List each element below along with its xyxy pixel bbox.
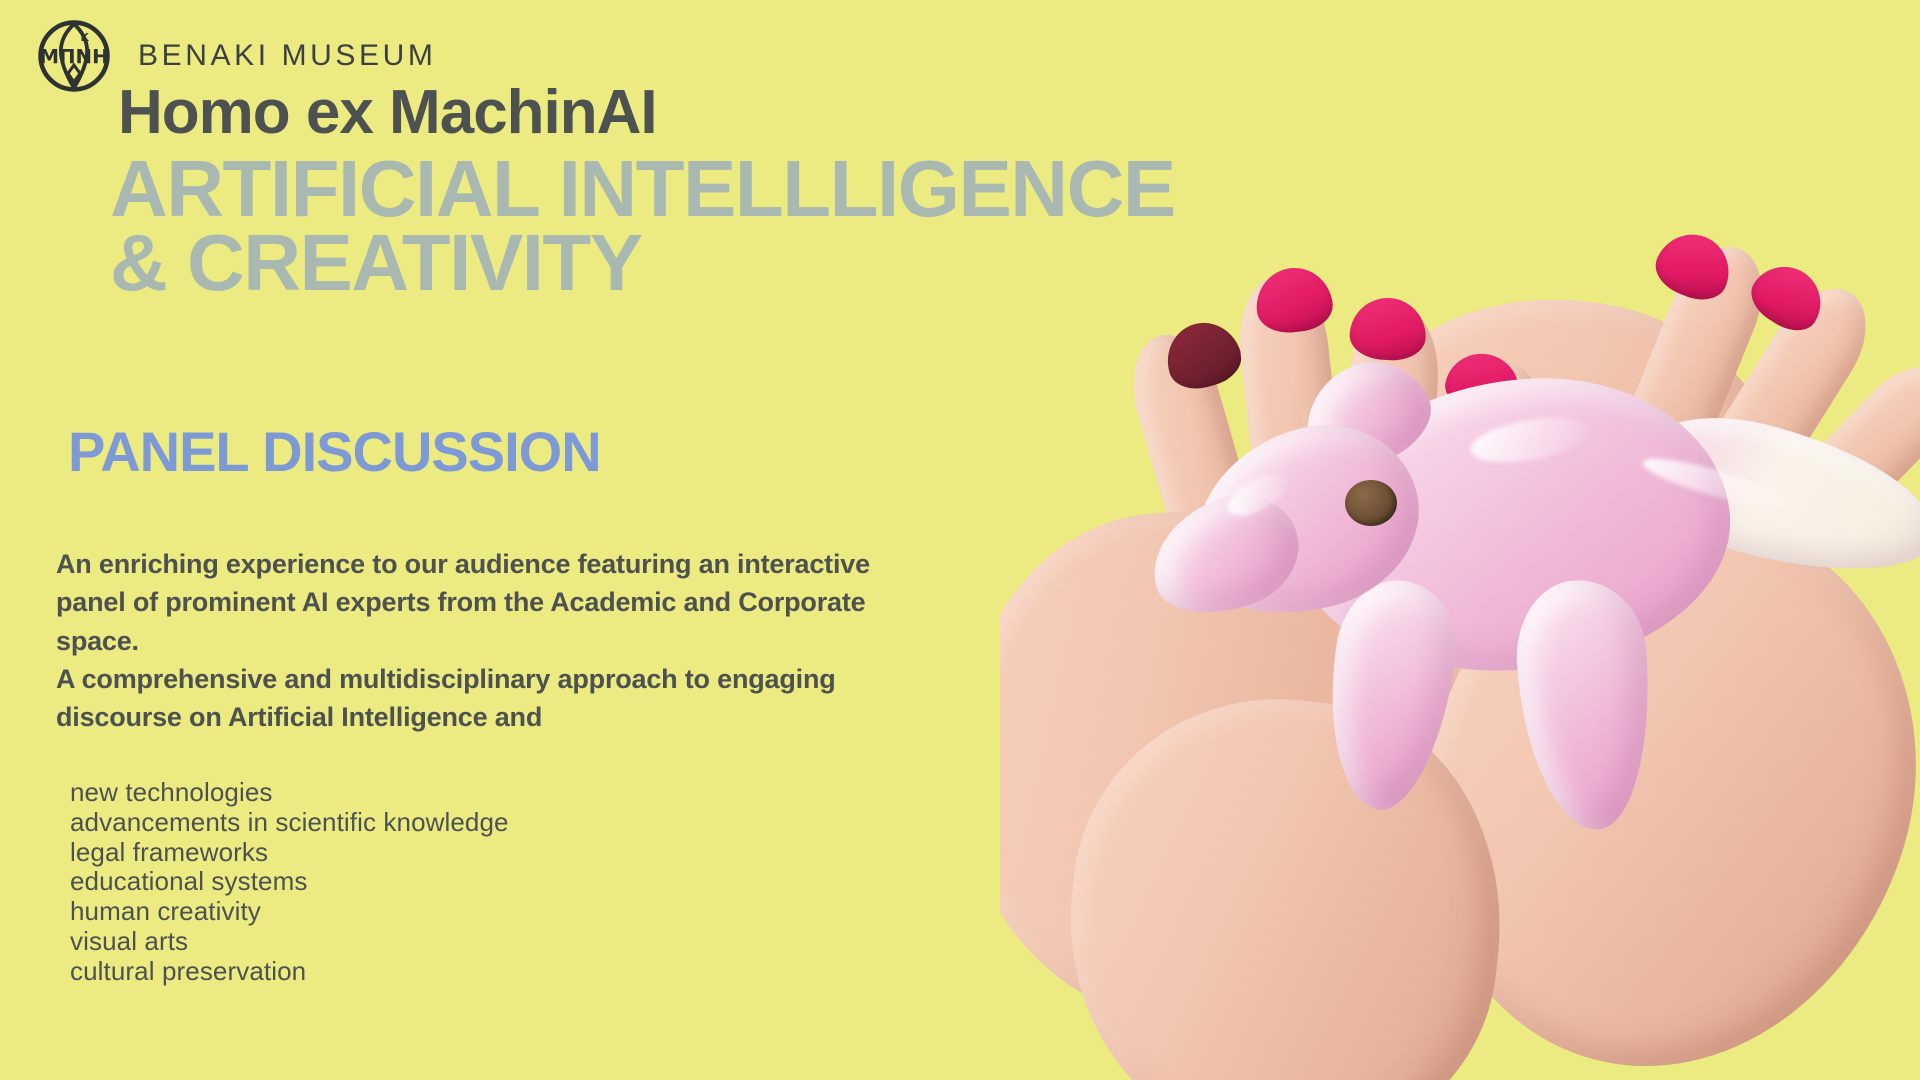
- figurine-ear: [1286, 344, 1444, 485]
- fingernail: [1159, 314, 1248, 396]
- description-paragraph-1: An enriching experience to our audience …: [56, 545, 916, 660]
- figurine-front-leg: [1315, 573, 1466, 817]
- list-item: visual arts: [70, 927, 509, 957]
- highlight: [1222, 466, 1294, 523]
- finger: [1233, 271, 1355, 608]
- description-block: An enriching experience to our audience …: [56, 545, 916, 737]
- list-item: educational systems: [70, 867, 509, 897]
- fingernail: [1253, 264, 1335, 336]
- svg-text:ΜΠΝΗ: ΜΠΝΗ: [39, 46, 108, 69]
- highlight: [1639, 450, 1790, 516]
- fingernail: [1742, 253, 1834, 340]
- benaki-museum-logo-icon: ΜΠΝΗ Κ: [36, 18, 112, 94]
- fingernail: [1348, 296, 1427, 362]
- topics-list: new technologies advancements in scienti…: [70, 778, 509, 986]
- figurine-head: [1172, 405, 1439, 635]
- list-item: legal frameworks: [70, 838, 509, 868]
- figurine-eye: [1345, 480, 1397, 526]
- thumb: [1115, 731, 1275, 998]
- finger: [1606, 233, 1779, 497]
- hands-holding-figurine-photo: [1000, 180, 1920, 1080]
- left-hand-lower: [1048, 679, 1523, 1080]
- right-hand-lower: [1355, 450, 1920, 1080]
- event-title: Homo ex MachinAI: [118, 82, 1175, 144]
- left-hand-palm: [1000, 480, 1464, 1060]
- finger: [1688, 271, 1886, 519]
- title-block: Homo ex MachinAI ARTIFICIAL INTELLLIGENC…: [118, 82, 1175, 299]
- figurine-body: [1290, 365, 1739, 684]
- museum-name-label: BENAKI MUSEUM: [138, 39, 437, 73]
- finger: [1336, 303, 1441, 637]
- finger: [1415, 355, 1552, 665]
- figurine-snout: [1137, 480, 1314, 631]
- fingernail: [1648, 223, 1740, 308]
- list-item: cultural preservation: [70, 957, 509, 987]
- finger: [1767, 347, 1920, 557]
- list-item: new technologies: [70, 778, 509, 808]
- list-item: advancements in scientific knowledge: [70, 808, 509, 838]
- theme-line-2: & CREATIVITY: [110, 226, 1175, 300]
- finger: [1119, 324, 1285, 645]
- theme-heading: ARTIFICIAL INTELLLIGENCE & CREATIVITY: [110, 152, 1175, 299]
- svg-text:Κ: Κ: [81, 31, 90, 44]
- highlight: [1467, 410, 1592, 470]
- description-paragraph-2: A comprehensive and multidisciplinary ap…: [56, 660, 916, 737]
- thumbnail: [1139, 723, 1248, 832]
- list-item: human creativity: [70, 897, 509, 927]
- figurine-back-leg: [1511, 576, 1658, 834]
- panel-discussion-subtitle: PANEL DISCUSSION: [68, 419, 601, 484]
- figurine-tail: [1609, 393, 1920, 597]
- fingernail: [1442, 348, 1525, 418]
- poster-canvas: ΜΠΝΗ Κ BENAKI MUSEUM Homo ex MachinAI AR…: [0, 0, 1920, 1080]
- right-hand-palm: [1285, 250, 1845, 781]
